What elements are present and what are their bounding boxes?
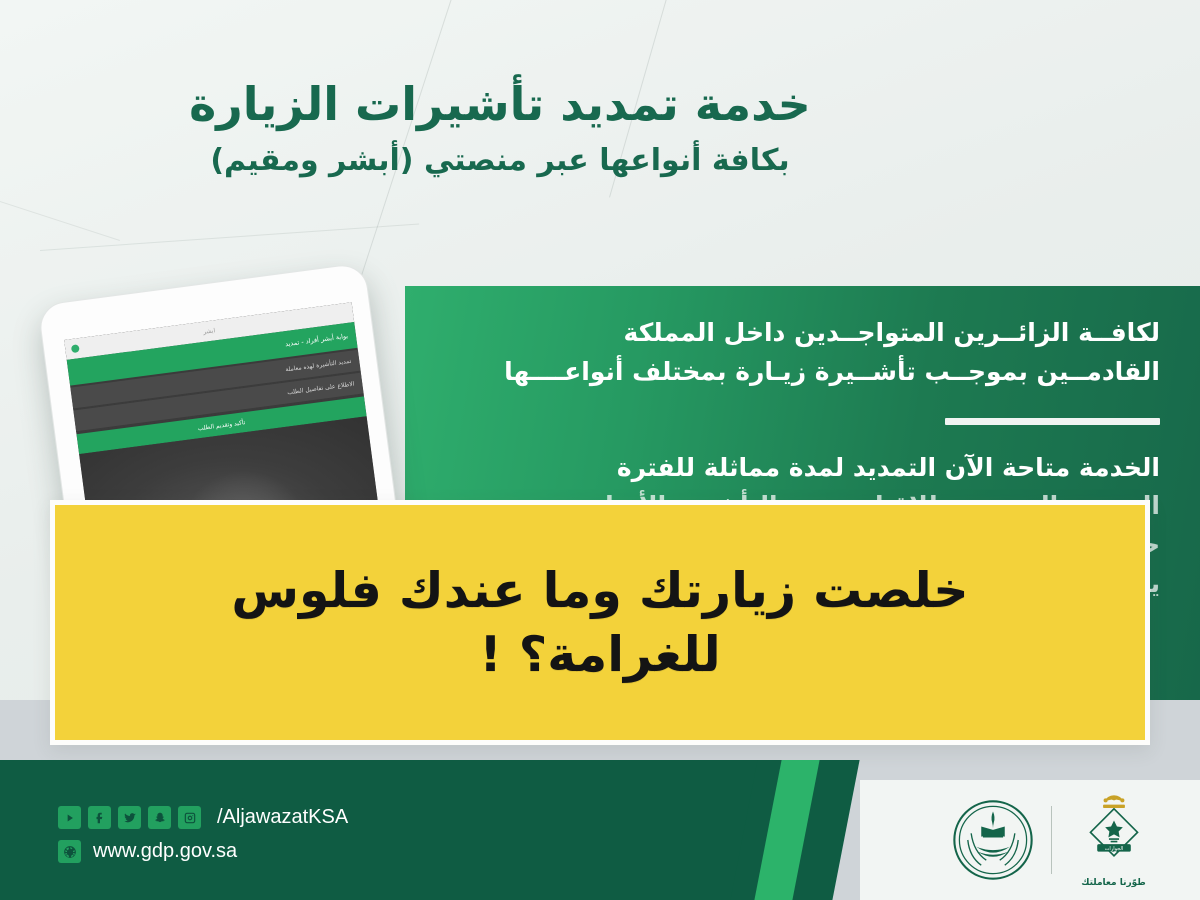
background-diagonal-line: [40, 223, 419, 251]
footer-logos: الجوازات طوّرنا معاملتك: [920, 790, 1190, 890]
panel-divider: [945, 418, 1160, 425]
ministry-of-interior-emblem: [951, 798, 1035, 882]
passports-emblem-icon: الجوازات: [1068, 792, 1160, 876]
website-url[interactable]: www.gdp.gov.sa: [93, 840, 237, 863]
twitter-icon[interactable]: [118, 806, 141, 829]
site-nav-text: بوابة أبشر أفراد - تمديد: [285, 332, 349, 348]
social-handle[interactable]: /AljawazatKSA: [217, 806, 348, 829]
passports-directorate-logo: الجوازات طوّرنا معاملتك: [1068, 792, 1160, 888]
banner-line-2: للغرامة؟ !: [479, 626, 720, 683]
site-submit-bar-text: تأكيد وتقديم الطلب: [197, 419, 245, 432]
page-title: خدمة تمديد تأشيرات الزيارة: [0, 78, 1000, 131]
browser-dot-icon: [71, 344, 80, 353]
footer-green-block: [0, 760, 770, 900]
snapchat-icon[interactable]: [148, 806, 171, 829]
logo-divider: [1051, 806, 1052, 874]
browser-url-text: ابشر: [203, 327, 216, 336]
panel-paragraph-1: لكافــة الزائــرين المتواجــدين داخل الم…: [500, 314, 1160, 392]
banner-line-1: خلصت زيارتك وما عندك فلوس: [231, 562, 968, 619]
yellow-callout-banner: خلصت زيارتك وما عندك فلوس للغرامة؟ !: [50, 500, 1150, 745]
site-row-1-text: تمديد التأشيرة لهذه معاملة: [285, 358, 352, 374]
globe-icon[interactable]: [58, 840, 81, 863]
header: خدمة تمديد تأشيرات الزيارة بكافة أنواعها…: [0, 78, 1000, 179]
instagram-icon[interactable]: [178, 806, 201, 829]
facebook-icon[interactable]: [88, 806, 111, 829]
social-links-row: /AljawazatKSA: [58, 806, 348, 829]
banner-text: خلصت زيارتك وما عندك فلوس للغرامة؟ !: [191, 559, 1008, 686]
passports-logo-tagline: طوّرنا معاملتك: [1068, 878, 1160, 888]
youtube-icon[interactable]: [58, 806, 81, 829]
poster-canvas: خدمة تمديد تأشيرات الزيارة بكافة أنواعها…: [0, 0, 1200, 900]
site-row-2-text: الاطلاع على تفاصيل الطلب: [287, 381, 355, 397]
page-subtitle: بكافة أنواعها عبر منصتي (أبشر ومقيم): [0, 143, 1000, 179]
website-row: www.gdp.gov.sa: [58, 840, 237, 863]
svg-text:الجوازات: الجوازات: [1104, 846, 1123, 852]
panel-paragraph-2-line-1: الخدمة متاحة الآن التمديد لمدة مماثلة لل…: [500, 449, 1160, 488]
